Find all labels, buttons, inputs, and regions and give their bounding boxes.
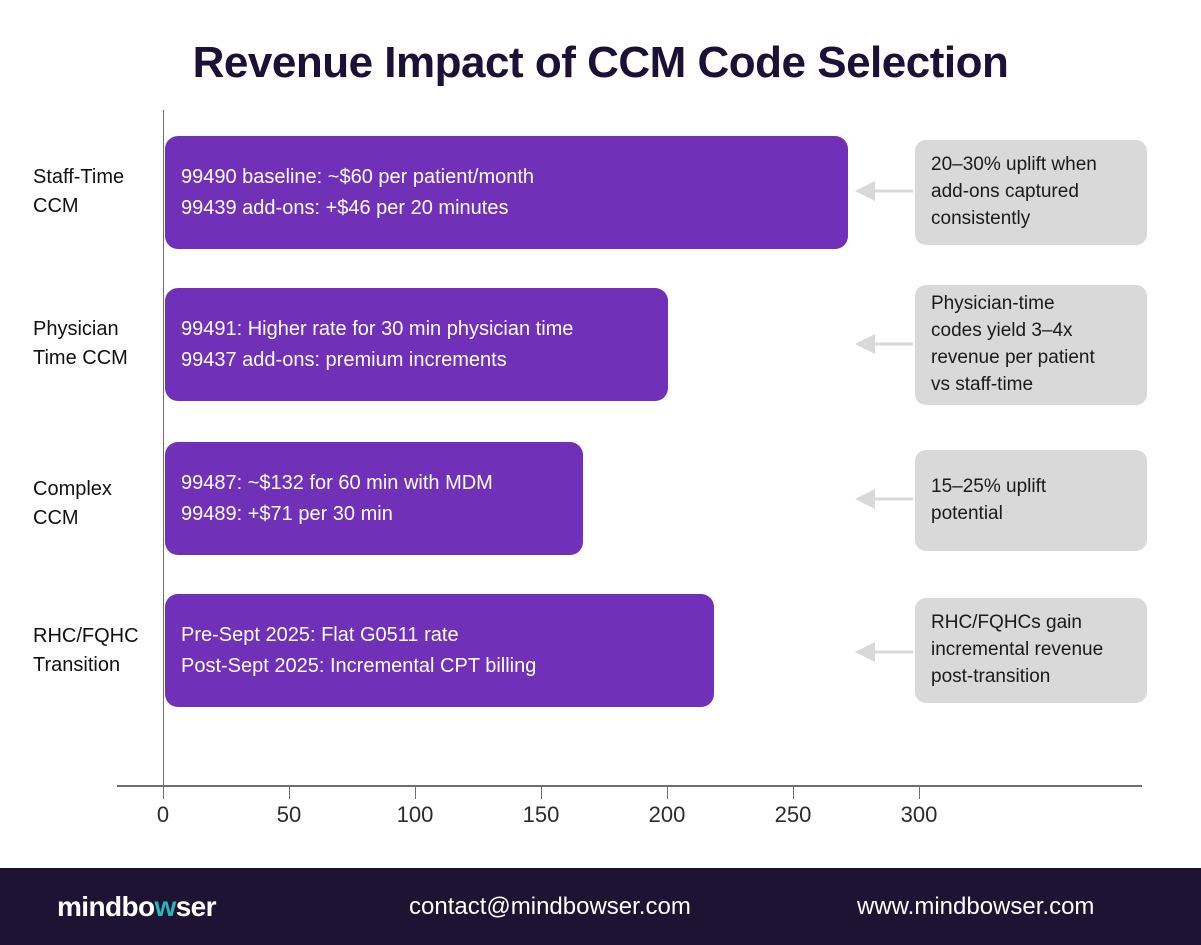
annotation-line: 15–25% uplift <box>931 474 1133 501</box>
x-tick-label-100: 100 <box>397 802 434 828</box>
footer-website[interactable]: www.mindbowser.com <box>857 893 1094 921</box>
callout-arrow-rhc-fqhc-transition <box>855 636 915 668</box>
bar-text-line: 99490 baseline: ~$60 per patient/month <box>181 162 848 193</box>
x-tick-label-200: 200 <box>649 802 686 828</box>
x-axis-line <box>117 785 1142 787</box>
bar-text-line: 99489: +$71 per 30 min <box>181 499 583 530</box>
x-tick-mark <box>919 787 920 799</box>
x-tick-label-0: 0 <box>157 802 169 828</box>
x-tick-mark <box>163 787 164 799</box>
category-label-line: CCM <box>33 504 153 533</box>
annotation-line: 20–30% uplift when <box>931 152 1133 179</box>
category-label-line: Transition <box>33 651 153 680</box>
mindbowser-logo: mindbowser <box>57 891 216 923</box>
bar-staff-time-ccm[interactable]: 99490 baseline: ~$60 per patient/month 9… <box>165 136 848 249</box>
x-tick-label-150: 150 <box>523 802 560 828</box>
annotation-physician-time-ccm: Physician-time codes yield 3–4x revenue … <box>915 285 1147 405</box>
category-label-line: Physician <box>33 315 153 344</box>
bar-text-line: 99439 add-ons: +$46 per 20 minutes <box>181 193 848 224</box>
category-label-staff-time-ccm: Staff-Time CCM <box>33 163 153 221</box>
bar-text-line: 99491: Higher rate for 30 min physician … <box>181 314 668 345</box>
category-label-rhc-fqhc-transition: RHC/FQHC Transition <box>33 622 153 680</box>
bar-complex-ccm[interactable]: 99487: ~$132 for 60 min with MDM 99489: … <box>165 442 583 555</box>
x-tick-label-300: 300 <box>901 802 938 828</box>
y-axis-line <box>163 110 164 786</box>
x-tick-label-250: 250 <box>775 802 812 828</box>
logo-text-accent: w <box>155 891 176 922</box>
category-label-line: RHC/FQHC <box>33 622 153 651</box>
annotation-line: consistently <box>931 206 1133 233</box>
annotation-line: post-transition <box>931 664 1133 691</box>
annotation-line: revenue per patient <box>931 345 1133 372</box>
annotation-line: incremental revenue <box>931 637 1133 664</box>
x-tick-mark <box>793 787 794 799</box>
x-tick-mark <box>541 787 542 799</box>
plot-area: 0 50 100 150 200 250 300 Staff-Time CCM … <box>0 0 1201 860</box>
x-tick-label-50: 50 <box>277 802 301 828</box>
bar-physician-time-ccm[interactable]: 99491: Higher rate for 30 min physician … <box>165 288 668 401</box>
x-tick-mark <box>289 787 290 799</box>
category-label-line: Time CCM <box>33 344 153 373</box>
annotation-line: add-ons captured <box>931 179 1133 206</box>
bar-rhc-fqhc-transition[interactable]: Pre-Sept 2025: Flat G0511 rate Post-Sept… <box>165 594 714 707</box>
callout-arrow-physician-time-ccm <box>855 328 915 360</box>
chart-container: Revenue Impact of CCM Code Selection 0 5… <box>0 0 1201 945</box>
category-label-line: Complex <box>33 475 153 504</box>
bar-text-line: 99487: ~$132 for 60 min with MDM <box>181 468 583 499</box>
annotation-line: vs staff-time <box>931 372 1133 399</box>
footer-bar: mindbowser contact@mindbowser.com www.mi… <box>0 868 1201 945</box>
logo-text-part2: ser <box>176 891 216 922</box>
annotation-line: potential <box>931 501 1133 528</box>
bar-text-line: Post-Sept 2025: Incremental CPT billing <box>181 651 714 682</box>
annotation-staff-time-ccm: 20–30% uplift when add-ons captured cons… <box>915 140 1147 245</box>
category-label-line: CCM <box>33 192 153 221</box>
annotation-rhc-fqhc-transition: RHC/FQHCs gain incremental revenue post-… <box>915 598 1147 703</box>
category-label-physician-time-ccm: Physician Time CCM <box>33 315 153 373</box>
annotation-line: Physician-time <box>931 291 1133 318</box>
callout-arrow-staff-time-ccm <box>855 175 915 207</box>
annotation-line: codes yield 3–4x <box>931 318 1133 345</box>
logo-text-part1: mindbo <box>57 891 155 922</box>
x-tick-mark <box>667 787 668 799</box>
category-label-line: Staff-Time <box>33 163 153 192</box>
category-label-complex-ccm: Complex CCM <box>33 475 153 533</box>
x-tick-mark <box>415 787 416 799</box>
callout-arrow-complex-ccm <box>855 483 915 515</box>
bar-text-line: Pre-Sept 2025: Flat G0511 rate <box>181 620 714 651</box>
bar-text-line: 99437 add-ons: premium increments <box>181 345 668 376</box>
footer-email[interactable]: contact@mindbowser.com <box>409 893 691 921</box>
annotation-complex-ccm: 15–25% uplift potential <box>915 450 1147 551</box>
annotation-line: RHC/FQHCs gain <box>931 610 1133 637</box>
